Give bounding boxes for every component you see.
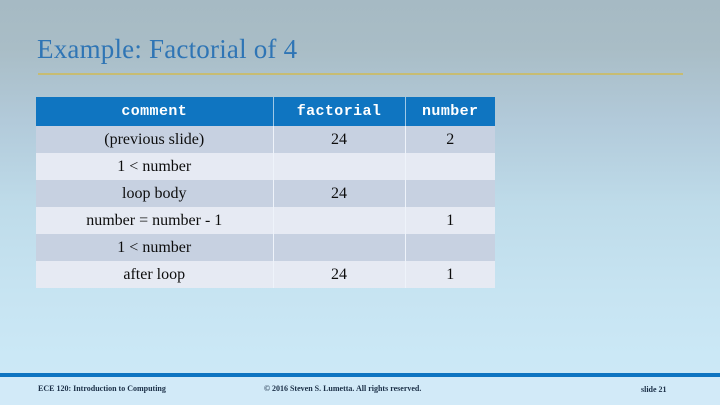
table-body: (previous slide) 24 2 1 < number loop bo… (36, 126, 495, 288)
table-row: after loop 24 1 (36, 261, 495, 288)
cell-comment: loop body (36, 180, 273, 207)
cell-number (405, 180, 495, 207)
cell-factorial (273, 207, 405, 234)
title-underline-rule (38, 73, 683, 75)
cell-factorial: 24 (273, 261, 405, 288)
table-header-row: comment factorial number (36, 97, 495, 126)
cell-comment: number = number - 1 (36, 207, 273, 234)
cell-factorial: 24 (273, 180, 405, 207)
cell-comment: 1 < number (36, 234, 273, 261)
factorial-trace-table: comment factorial number (previous slide… (36, 97, 495, 288)
footer-course-label: ECE 120: Introduction to Computing (38, 384, 166, 393)
cell-comment: 1 < number (36, 153, 273, 180)
cell-number: 1 (405, 207, 495, 234)
table-header: comment factorial number (36, 97, 495, 126)
column-header-comment: comment (36, 97, 273, 126)
cell-number (405, 153, 495, 180)
factorial-trace-table-container: comment factorial number (previous slide… (36, 97, 495, 288)
cell-number: 1 (405, 261, 495, 288)
table-row: (previous slide) 24 2 (36, 126, 495, 153)
cell-comment: (previous slide) (36, 126, 273, 153)
cell-number: 2 (405, 126, 495, 153)
cell-comment: after loop (36, 261, 273, 288)
cell-factorial (273, 153, 405, 180)
table-row: number = number - 1 1 (36, 207, 495, 234)
cell-factorial (273, 234, 405, 261)
table-row: 1 < number (36, 153, 495, 180)
table-row: 1 < number (36, 234, 495, 261)
cell-number (405, 234, 495, 261)
footer-slide-number: slide 21 (641, 385, 667, 394)
page-title: Example: Factorial of 4 (37, 33, 297, 65)
footer-copyright-label: © 2016 Steven S. Lumetta. All rights res… (264, 384, 421, 393)
slide-canvas: Example: Factorial of 4 comment factoria… (0, 0, 720, 405)
column-header-factorial: factorial (273, 97, 405, 126)
column-header-number: number (405, 97, 495, 126)
cell-factorial: 24 (273, 126, 405, 153)
table-row: loop body 24 (36, 180, 495, 207)
